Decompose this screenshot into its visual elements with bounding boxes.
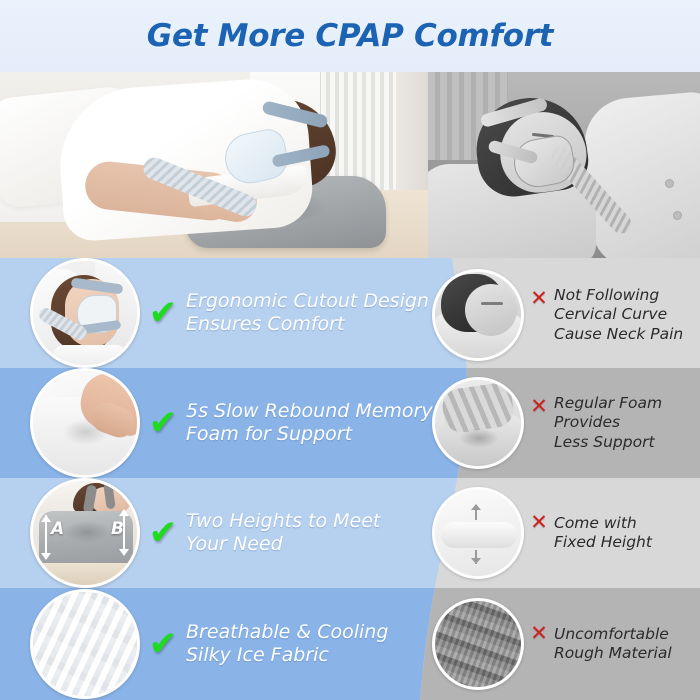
thumb-height-label-a: A [51,519,64,539]
con-row-3: ✕ Come with Fixed Height [428,482,700,584]
infographic-page: Get More CPAP Comfort [0,0,700,700]
pro-line: Foam for Support [186,423,433,446]
pro-text-4: Breathable & Cooling Silky Ice Fabric [186,621,388,667]
con-line: Less Support [554,433,662,452]
con-thumbnail-4 [432,598,524,690]
con-text-2: Regular Foam Provides Less Support [554,394,662,452]
pro-thumbnail-4 [30,589,140,699]
check-icon-4: ✔ [140,627,186,661]
pro-line: Two Heights to Meet [186,510,380,533]
hero-strip [0,72,700,265]
pro-line: 5s Slow Rebound Memory [186,400,433,423]
pro-line: Ensures Comfort [186,313,429,336]
page-title: Get More CPAP Comfort [147,18,553,54]
con-line: Rough Material [554,644,672,663]
cross-icon-1: ✕ [524,288,554,309]
pro-text-2: 5s Slow Rebound Memory Foam for Support [186,400,433,446]
con-text-4: Uncomfortable Rough Material [554,625,672,663]
pro-thumbnail-1 [30,258,140,368]
cross-icon-4: ✕ [524,623,554,644]
cross-icon-2: ✕ [524,396,554,417]
con-thumbnail-1 [432,269,524,361]
cross-icon-3: ✕ [524,512,554,533]
con-text-1: Not Following Cervical Curve Cause Neck … [554,286,683,344]
pro-thumbnail-2 [30,368,140,478]
pro-row-1: ✔ Ergonomic Cutout Design Ensures Comfor… [0,260,452,366]
pro-line: Silky Ice Fabric [186,644,388,667]
pro-line: Breathable & Cooling [186,621,388,644]
con-line: Provides [554,413,662,432]
check-icon-2: ✔ [140,406,186,440]
check-icon-3: ✔ [140,516,186,550]
con-thumbnail-3 [432,487,524,579]
pro-row-3: A B ✔ Two Heights to Meet Your Need [0,480,452,586]
con-line: Fixed Height [554,533,652,552]
con-thumbnail-2 [432,377,524,469]
pro-thumbnail-3: A B [30,478,140,588]
con-line: Come with [554,514,652,533]
con-row-4: ✕ Uncomfortable Rough Material [428,592,700,696]
hero-image-color [0,72,428,258]
con-line: Not Following [554,286,683,305]
con-line: Cervical Curve [554,305,683,324]
comparison-section: ✔ Ergonomic Cutout Design Ensures Comfor… [0,258,700,700]
pro-line: Your Need [186,533,380,556]
con-line: Cause Neck Pain [554,325,683,344]
pro-text-3: Two Heights to Meet Your Need [186,510,380,556]
header: Get More CPAP Comfort [0,0,700,72]
check-icon-1: ✔ [140,296,186,330]
con-row-2: ✕ Regular Foam Provides Less Support [428,372,700,474]
con-line: Regular Foam [554,394,662,413]
hero-image-grayscale [428,72,700,265]
pro-row-4: ✔ Breathable & Cooling Silky Ice Fabric [0,590,452,698]
con-line: Uncomfortable [554,625,672,644]
con-text-3: Come with Fixed Height [554,514,652,552]
con-row-1: ✕ Not Following Cervical Curve Cause Nec… [428,264,700,366]
pro-row-2: ✔ 5s Slow Rebound Memory Foam for Suppor… [0,370,452,476]
pro-line: Ergonomic Cutout Design [186,290,429,313]
pro-text-1: Ergonomic Cutout Design Ensures Comfort [186,290,429,336]
